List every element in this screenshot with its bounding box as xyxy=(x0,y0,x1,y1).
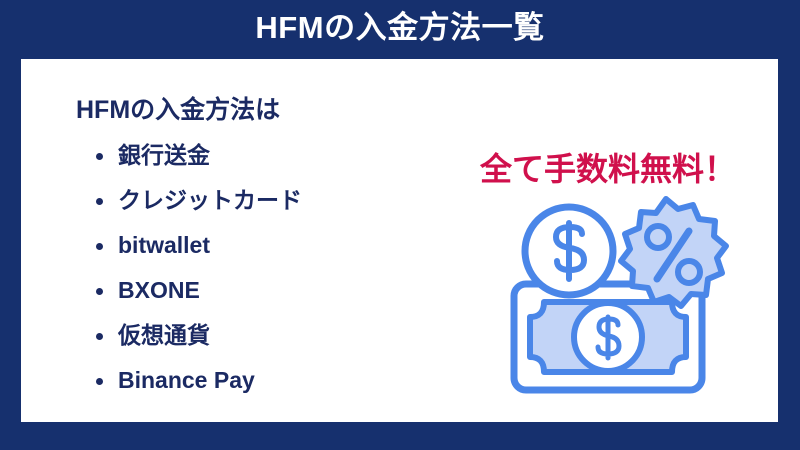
promo-headline: 全て手数料無料！ xyxy=(448,149,768,189)
percent-bottom-circle-icon xyxy=(678,261,700,283)
bullet-dot-icon xyxy=(96,333,103,340)
list-item-label: 仮想通貨 xyxy=(118,322,210,348)
content-card: HFMの入金方法は 銀行送金 クレジットカード bitwallet BXONE xyxy=(21,59,778,422)
bullet-dot-icon xyxy=(96,243,103,250)
deposit-methods-list: 銀行送金 クレジットカード bitwallet BXONE 仮想通貨 xyxy=(76,133,436,403)
list-item: bitwallet xyxy=(76,223,436,268)
money-banknote-coin-percent-icon xyxy=(486,189,731,404)
bullet-dot-icon xyxy=(96,288,103,295)
list-item-label: Binance Pay xyxy=(118,367,255,393)
list-item-label: bitwallet xyxy=(118,232,210,258)
list-item: 銀行送金 xyxy=(76,133,436,178)
list-item: BXONE xyxy=(76,268,436,313)
list-item: クレジットカード xyxy=(76,178,436,223)
list-item: 仮想通貨 xyxy=(76,313,436,358)
percent-top-circle-icon xyxy=(647,226,669,248)
bullet-dot-icon xyxy=(96,378,103,385)
list-item: Binance Pay xyxy=(76,358,436,403)
list-item-label: クレジットカード xyxy=(118,187,302,213)
list-item-label: BXONE xyxy=(118,277,200,303)
list-item-label: 銀行送金 xyxy=(118,142,210,168)
slide-canvas: HFMの入金方法一覧 HFMの入金方法は 銀行送金 クレジットカード bitwa… xyxy=(0,0,800,450)
bullet-dot-icon xyxy=(96,198,103,205)
bullet-dot-icon xyxy=(96,153,103,160)
page-title: HFMの入金方法一覧 xyxy=(0,8,800,48)
money-illustration xyxy=(486,189,731,404)
deposit-methods-block: HFMの入金方法は 銀行送金 クレジットカード bitwallet BXONE xyxy=(76,95,436,403)
deposit-methods-heading: HFMの入金方法は xyxy=(76,95,436,125)
